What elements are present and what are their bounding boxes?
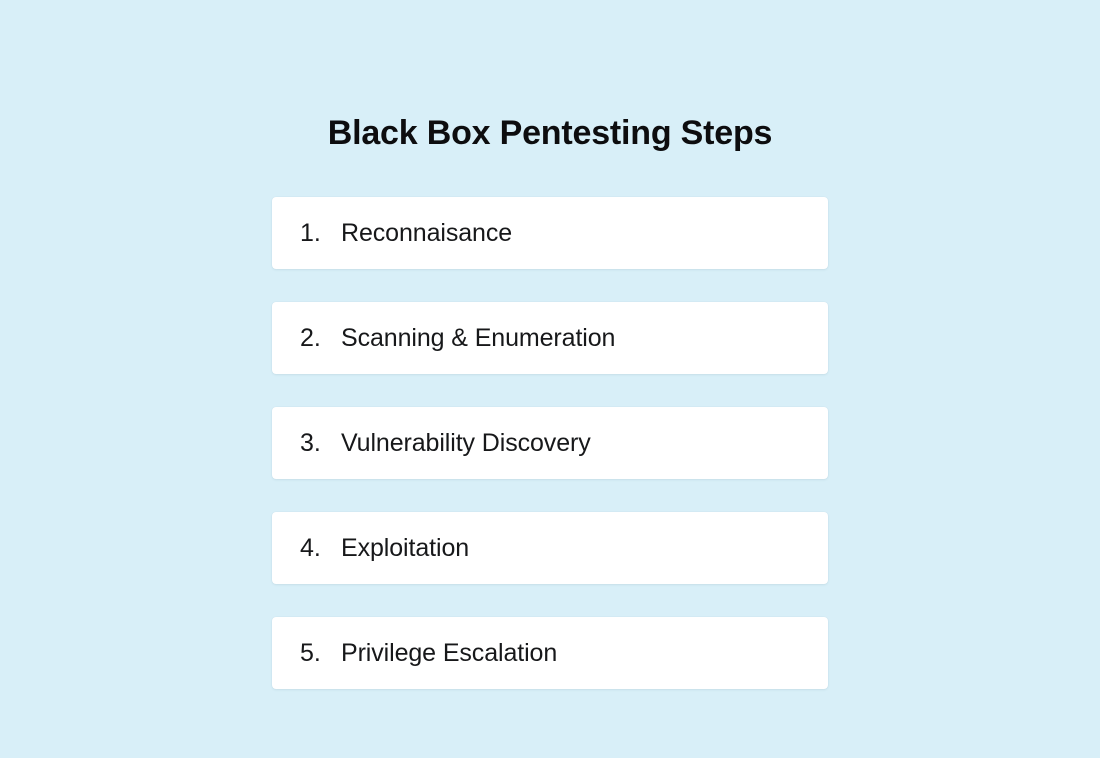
- page-title: Black Box Pentesting Steps: [0, 111, 1100, 155]
- step-card-2: 2. Scanning & Enumeration: [272, 302, 828, 374]
- step-card-4: 4. Exploitation: [272, 512, 828, 584]
- step-card-3: 3. Vulnerability Discovery: [272, 407, 828, 479]
- pentesting-steps-list: 1. Reconnaisance 2. Scanning & Enumerati…: [272, 197, 828, 689]
- step-number-4: 4.: [300, 533, 341, 563]
- step-number-3: 3.: [300, 428, 341, 458]
- step-label-scanning-enumeration: Scanning & Enumeration: [341, 323, 615, 353]
- infographic-page: Black Box Pentesting Steps 1. Reconnaisa…: [0, 0, 1100, 758]
- step-number-5: 5.: [300, 638, 341, 668]
- step-label-exploitation: Exploitation: [341, 533, 469, 563]
- step-label-reconnaisance: Reconnaisance: [341, 218, 512, 248]
- step-card-1: 1. Reconnaisance: [272, 197, 828, 269]
- step-label-vulnerability-discovery: Vulnerability Discovery: [341, 428, 591, 458]
- step-number-2: 2.: [300, 323, 341, 353]
- step-number-1: 1.: [300, 218, 341, 248]
- step-label-privilege-escalation: Privilege Escalation: [341, 638, 557, 668]
- step-card-5: 5. Privilege Escalation: [272, 617, 828, 689]
